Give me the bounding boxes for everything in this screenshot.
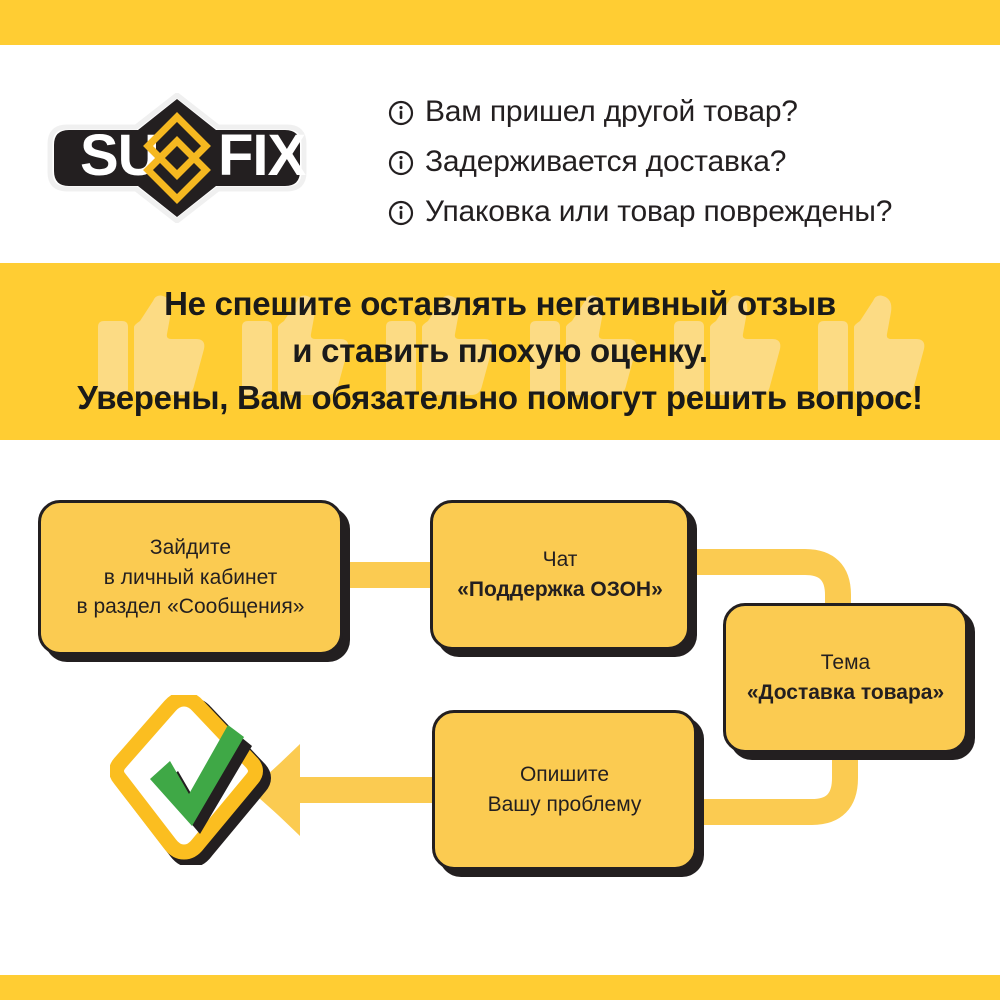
bullet-text: Упаковка или товар повреждены? bbox=[425, 195, 892, 229]
banner-line: Уверены, Вам обязательно помогут решить … bbox=[77, 375, 923, 422]
check-mark-icon bbox=[110, 695, 275, 865]
step-topic-delivery[interactable]: Тема «Доставка товара» bbox=[723, 603, 968, 753]
banner-line: и ставить плохую оценку. bbox=[292, 328, 707, 375]
info-icon bbox=[388, 200, 414, 226]
bottom-accent-bar bbox=[0, 975, 1000, 1000]
node-line-emphasis: «Сообщения» bbox=[167, 595, 304, 618]
connector-1-2 bbox=[335, 562, 440, 588]
node-line-composite: в раздел «Сообщения» bbox=[77, 592, 305, 622]
node-line-prefix: в раздел bbox=[77, 595, 168, 618]
node-line-emphasis: «Доставка товара» bbox=[747, 678, 944, 708]
brand-logo: SU FIX bbox=[42, 93, 312, 223]
node-line: Зайдите bbox=[150, 533, 231, 563]
step-support-chat[interactable]: Чат «Поддержка ОЗОН» bbox=[430, 500, 690, 650]
bullet-text: Вам пришел другой товар? bbox=[425, 95, 798, 129]
node-line: в личный кабинет bbox=[104, 563, 277, 593]
node-line: Тема bbox=[821, 648, 870, 678]
info-icon bbox=[388, 100, 414, 126]
banner-line: Не спешите оставлять негативный отзыв bbox=[164, 281, 836, 328]
header-section: SU FIX Вам пришел др bbox=[0, 45, 1000, 263]
bullet-item: Задерживается доставка? bbox=[388, 139, 988, 185]
infographic-page: SU FIX Вам пришел др bbox=[0, 0, 1000, 1000]
node-line: Опишите bbox=[520, 760, 609, 790]
bullet-item: Вам пришел другой товар? bbox=[388, 89, 988, 135]
bullet-text: Задерживается доставка? bbox=[425, 145, 786, 179]
bullet-item: Упаковка или товар повреждены? bbox=[388, 189, 988, 235]
svg-text:FIX: FIX bbox=[218, 123, 307, 188]
advice-banner: Не спешите оставлять негативный отзыв и … bbox=[0, 263, 1000, 440]
connector-3-4 bbox=[700, 745, 845, 812]
flow-chart: Зайдите в личный кабинет в раздел «Сообщ… bbox=[0, 440, 1000, 975]
banner-text-block: Не спешите оставлять негативный отзыв и … bbox=[0, 263, 1000, 440]
step-open-messages[interactable]: Зайдите в личный кабинет в раздел «Сообщ… bbox=[38, 500, 343, 655]
node-line: Вашу проблему bbox=[488, 790, 642, 820]
arrow-left-icon bbox=[250, 744, 440, 836]
info-icon bbox=[388, 150, 414, 176]
step-describe-problem[interactable]: Опишите Вашу проблему bbox=[432, 710, 697, 870]
issue-bullet-list: Вам пришел другой товар? Задерживается д… bbox=[388, 89, 988, 239]
svg-text:SU: SU bbox=[80, 123, 159, 188]
logo-svg: SU FIX bbox=[42, 93, 312, 223]
node-line-emphasis: «Поддержка ОЗОН» bbox=[457, 575, 663, 605]
node-line: Чат bbox=[543, 545, 578, 575]
top-accent-bar bbox=[0, 0, 1000, 45]
